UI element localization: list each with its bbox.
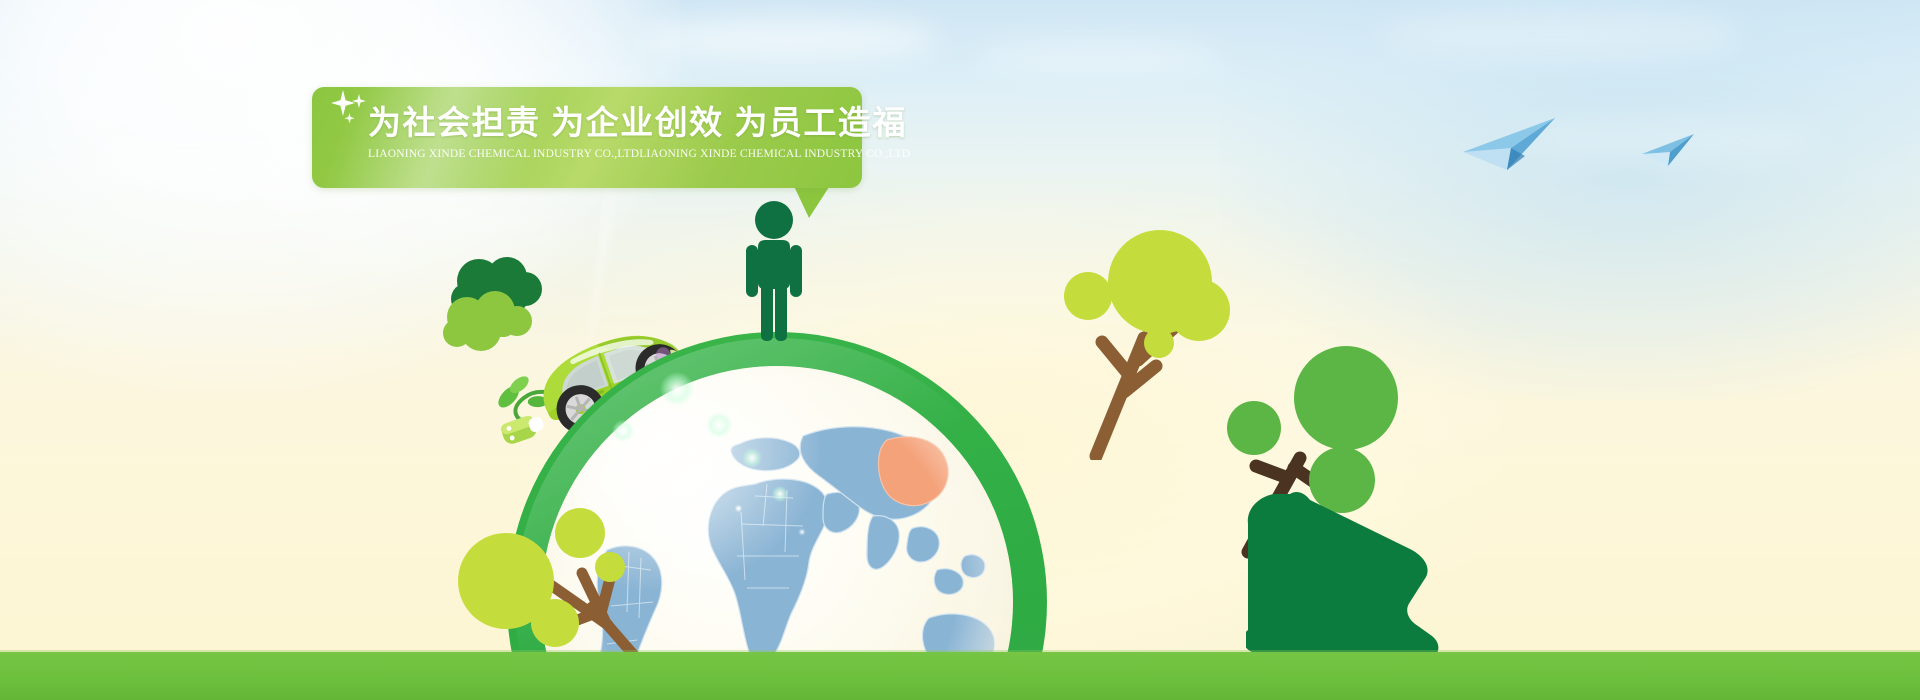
sparkle-dot xyxy=(690,450,696,456)
sparkle-dust xyxy=(706,412,732,438)
sparkle-dot xyxy=(640,466,645,471)
cloud-wisp xyxy=(980,40,1220,74)
cloud-wisp xyxy=(640,18,940,60)
tree-foliage xyxy=(1294,346,1398,450)
cloud-wisp xyxy=(1380,12,1740,58)
person-figure-icon xyxy=(744,199,804,341)
sparkle-dot xyxy=(800,530,804,534)
tree-foliage xyxy=(1064,272,1112,320)
grass-strip xyxy=(0,652,1920,700)
tree-foliage xyxy=(531,599,579,647)
sparkle-dot xyxy=(586,500,590,504)
eco-banner: 为社会担责 为企业创效 为员工造福 LIAONING XINDE CHEMICA… xyxy=(0,0,1920,700)
sparkle-dust xyxy=(660,372,694,406)
sparkle-dot xyxy=(736,506,741,511)
sparkle-dust xyxy=(612,420,634,442)
sparkle-dust xyxy=(742,448,762,468)
sparkle-dust xyxy=(772,486,788,502)
tree-foliage xyxy=(555,508,605,558)
tree-foliage xyxy=(595,552,625,582)
cloud-wisp xyxy=(60,150,320,188)
banner-headline: 为社会担责 为企业创效 为员工造福 xyxy=(368,101,848,145)
tree-foliage xyxy=(1144,328,1174,358)
tree-foliage xyxy=(1227,401,1281,455)
paper-plane-icon xyxy=(1638,128,1700,170)
banner-subline: LIAONING XINDE CHEMICAL INDUSTRY CO.,LTD… xyxy=(368,148,868,160)
paper-plane-icon xyxy=(1455,108,1565,178)
